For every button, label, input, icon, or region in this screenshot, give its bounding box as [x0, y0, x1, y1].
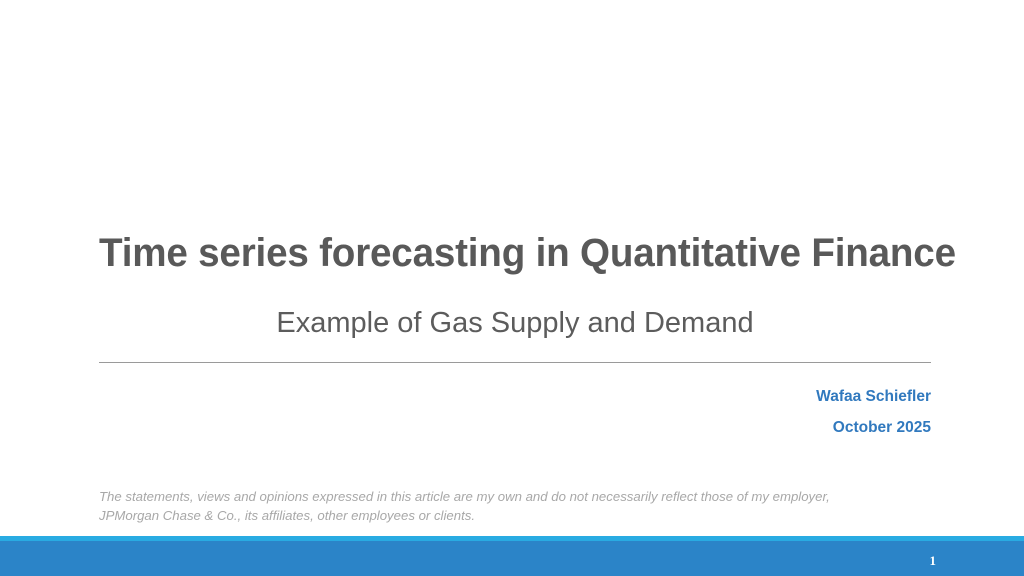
page-subtitle: Example of Gas Supply and Demand: [99, 303, 931, 343]
horizontal-divider: [99, 362, 931, 363]
page-number: 1: [930, 553, 937, 569]
presentation-date: October 2025: [99, 412, 931, 443]
footer-bar: 1: [0, 541, 1024, 576]
author-name: Wafaa Schiefler: [99, 381, 931, 412]
slide-footer: 1: [0, 536, 1024, 576]
disclaimer-text: The statements, views and opinions expre…: [99, 487, 871, 525]
title-slide: Time series forecasting in Quantitative …: [0, 0, 1024, 576]
byline: Wafaa Schiefler October 2025: [99, 381, 931, 443]
page-title: Time series forecasting in Quantitative …: [99, 228, 910, 278]
